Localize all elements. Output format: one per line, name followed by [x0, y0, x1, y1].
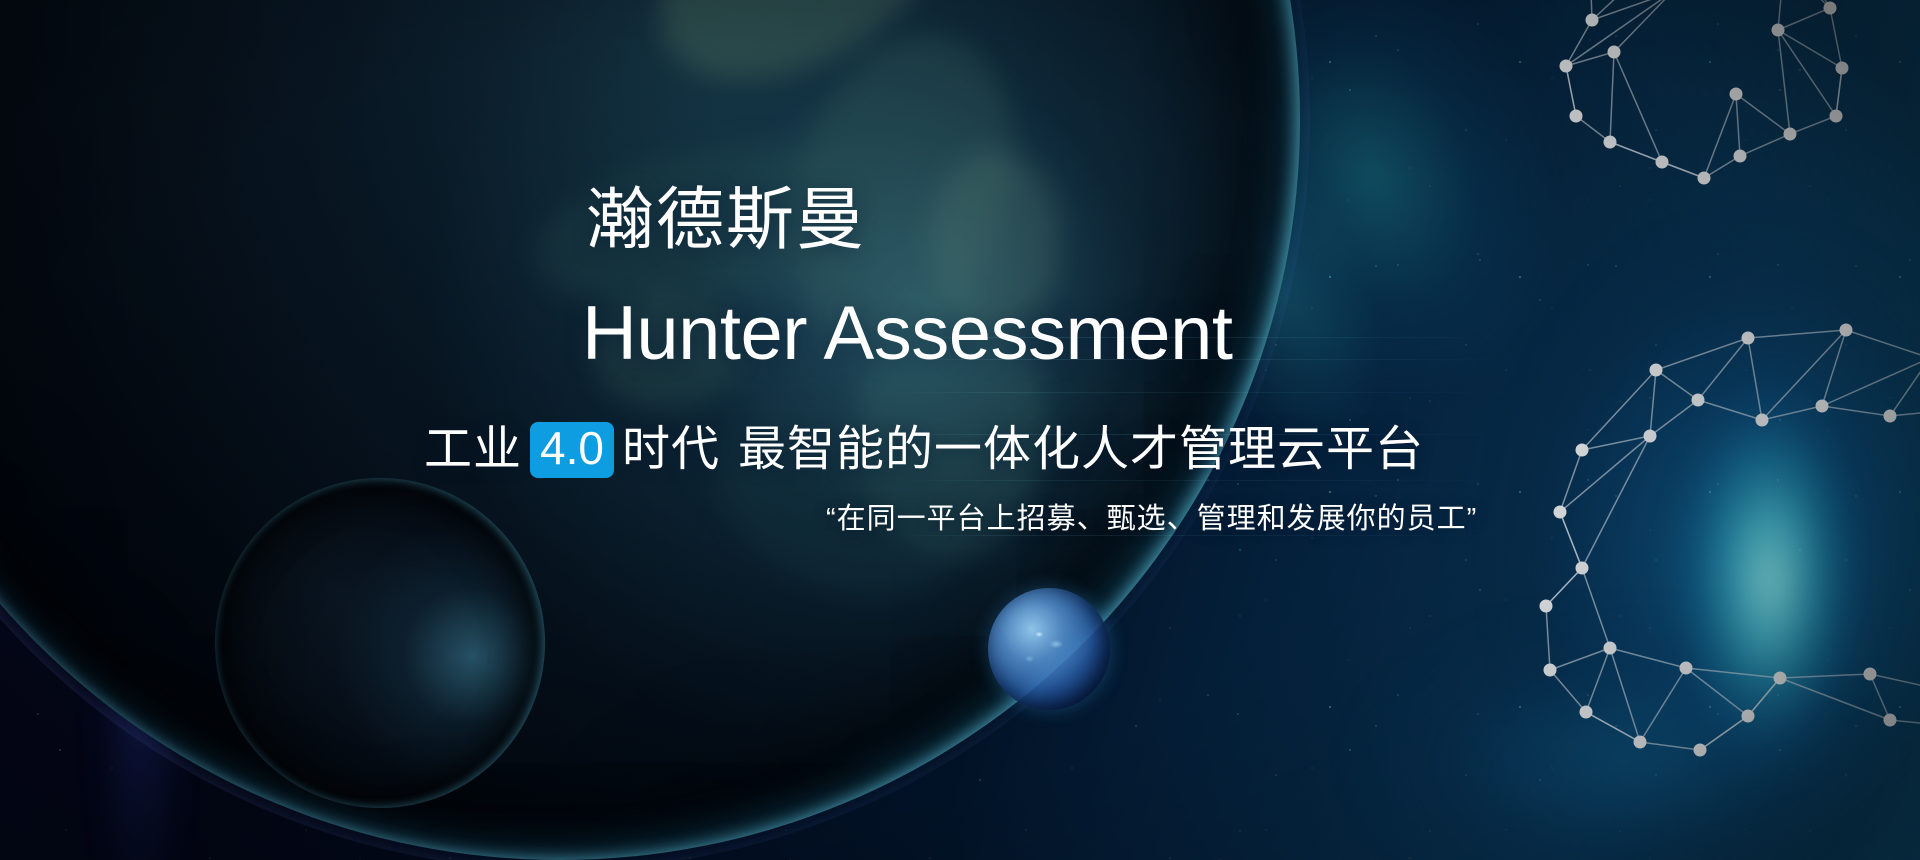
hero-copy: 瀚德斯曼 Hunter Assessment 工业 4.0 时代 最智能的一体化… — [0, 0, 1920, 860]
tagline: 工业 4.0 时代 最智能的一体化人才管理云平台 — [424, 422, 1424, 478]
tagline-suffix: 最智能的一体化人才管理云平台 — [738, 426, 1424, 474]
industry-version-badge: 4.0 — [530, 422, 614, 478]
hero-banner: 瀚德斯曼 Hunter Assessment 工业 4.0 时代 最智能的一体化… — [0, 0, 1920, 860]
brand-title-english: Hunter Assessment — [582, 296, 1232, 372]
brand-title-chinese: 瀚德斯曼 — [586, 186, 866, 254]
hero-subtitle-quote: “在同一平台上招募、甄选、管理和发展你的员工” — [826, 505, 1477, 534]
tagline-middle: 时代 — [622, 426, 720, 474]
tagline-prefix: 工业 — [424, 426, 522, 474]
